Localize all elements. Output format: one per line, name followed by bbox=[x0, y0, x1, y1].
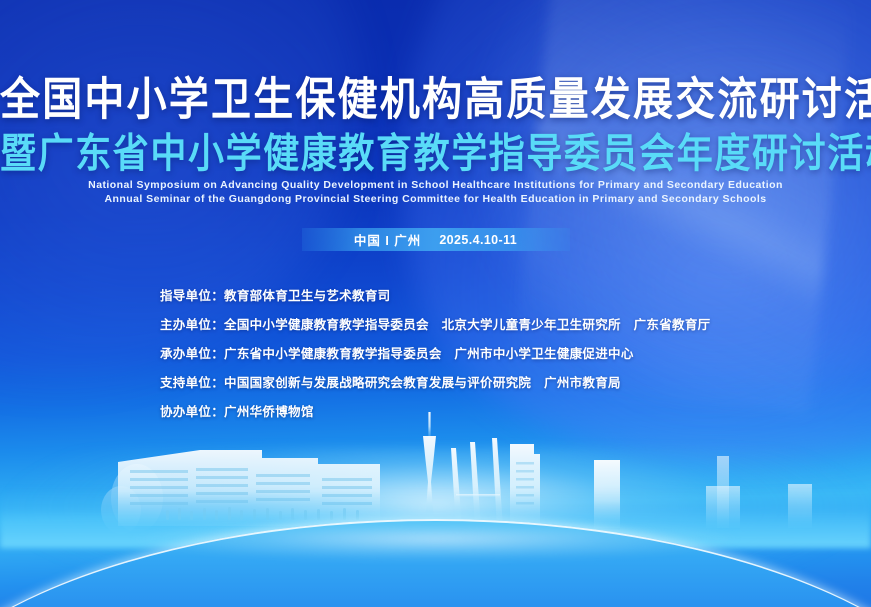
organizer-value: 教育部体育卫生与艺术教育司 bbox=[224, 289, 390, 303]
poster-title: 全国中小学卫生保健机构高质量发展交流研讨活动 暨广东省中小学健康教育教学指导委员… bbox=[0, 74, 871, 172]
organizer-row: 指导单位：教育部体育卫生与艺术教育司 bbox=[160, 288, 760, 304]
organizer-label: 指导单位： bbox=[160, 289, 224, 303]
organizer-value: 中国国家创新与发展战略研究会教育发展与评价研究院 广州市教育局 bbox=[224, 376, 621, 390]
organizer-row: 承办单位：广东省中小学健康教育教学指导委员会 广州市中小学卫生健康促进中心 bbox=[160, 346, 760, 362]
poster-subtitle: National Symposium on Advancing Quality … bbox=[0, 178, 871, 206]
organizer-value: 广东省中小学健康教育教学指导委员会 广州市中小学卫生健康促进中心 bbox=[224, 347, 634, 361]
poster-content: 全国中小学卫生保健机构高质量发展交流研讨活动 暨广东省中小学健康教育教学指导委员… bbox=[0, 0, 871, 607]
title-line-secondary: 暨广东省中小学健康教育教学指导委员会年度研讨活动 bbox=[0, 130, 871, 177]
organizer-value: 广州华侨博物馆 bbox=[224, 405, 314, 419]
organizer-label: 承办单位： bbox=[160, 347, 224, 361]
event-location-date-badge: 中国 I 广州 2025.4.10-11 bbox=[302, 228, 570, 251]
subtitle-line-2: Annual Seminar of the Guangdong Provinci… bbox=[0, 192, 871, 206]
event-location: 中国 I 广州 bbox=[354, 230, 421, 249]
title-line-primary: 全国中小学卫生保健机构高质量发展交流研讨活动 bbox=[0, 74, 871, 126]
organizer-list: 指导单位：教育部体育卫生与艺术教育司 主办单位：全国中小学健康教育教学指导委员会… bbox=[160, 288, 760, 420]
organizer-label: 协办单位： bbox=[160, 405, 224, 419]
event-date: 2025.4.10-11 bbox=[439, 233, 517, 247]
organizer-row: 主办单位：全国中小学健康教育教学指导委员会 北京大学儿童青少年卫生研究所 广东省… bbox=[160, 317, 760, 333]
conference-poster: 全国中小学卫生保健机构高质量发展交流研讨活动 暨广东省中小学健康教育教学指导委员… bbox=[0, 0, 871, 607]
organizer-row: 支持单位：中国国家创新与发展战略研究会教育发展与评价研究院 广州市教育局 bbox=[160, 375, 760, 391]
organizer-row: 协办单位：广州华侨博物馆 bbox=[160, 404, 760, 420]
organizer-label: 主办单位： bbox=[160, 318, 224, 332]
organizer-value: 全国中小学健康教育教学指导委员会 北京大学儿童青少年卫生研究所 广东省教育厅 bbox=[224, 318, 710, 332]
subtitle-line-1: National Symposium on Advancing Quality … bbox=[0, 178, 871, 192]
organizer-label: 支持单位： bbox=[160, 376, 224, 390]
